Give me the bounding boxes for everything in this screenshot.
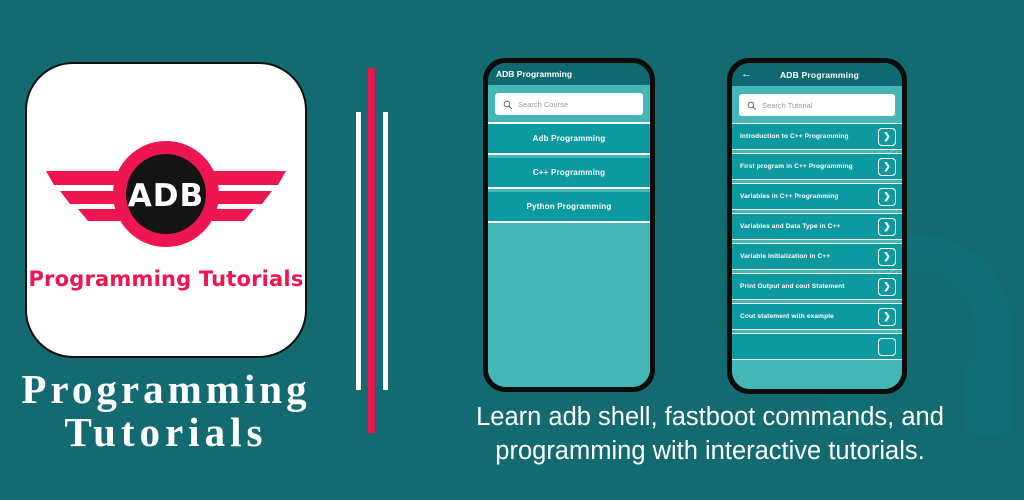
phone-mockup-courses: ADB Programming Search Course Adb Progra… (483, 58, 655, 392)
tutorial-label: Print Output and cout Statement (740, 283, 845, 290)
tutorial-label: Variables and Data Type in C++ (740, 223, 840, 230)
search-icon (503, 100, 512, 109)
tutorial-label: First program in C++ Programming (740, 163, 853, 170)
chevron-right-icon[interactable]: ❯ (878, 308, 896, 326)
list-item[interactable]: C++ Programming (488, 158, 650, 189)
list-item[interactable]: Variables in C++ Programming ❯ (732, 183, 902, 210)
app-icon-card: ADB Programming Tutorials (25, 62, 307, 358)
course-label: C++ Programming (533, 168, 605, 177)
pink-vertical-bar (368, 68, 375, 433)
search-input[interactable]: Search Tutorial (739, 94, 895, 116)
app-title-line2: Tutorials (0, 411, 332, 454)
chevron-right-icon[interactable] (878, 338, 896, 356)
page-title: Programming Tutorials (0, 368, 332, 453)
search-placeholder: Search Tutorial (762, 101, 812, 110)
phone2-appbar-title: ADB Programming (759, 70, 894, 80)
phone2-tutorial-list: Introduction to C++ Programming ❯ First … (732, 123, 902, 389)
search-icon (747, 101, 756, 110)
list-item[interactable]: Introduction to C++ Programming ❯ (732, 123, 902, 150)
list-item[interactable]: Python Programming (488, 192, 650, 223)
white-vertical-bar-right (383, 112, 388, 390)
list-item[interactable] (732, 333, 902, 360)
tutorial-label: Variable Initialization in C++ (740, 253, 830, 260)
phone1-empty-area (488, 223, 650, 387)
chevron-right-icon[interactable]: ❯ (878, 278, 896, 296)
tutorial-label: Variables in C++ Programming (740, 193, 838, 200)
white-vertical-bar-left (356, 112, 361, 390)
phone2-appbar: ← ADB Programming (732, 63, 902, 86)
phone-mockup-tutorials: ← ADB Programming Search Tutorial Introd… (727, 58, 907, 394)
logo-caption: Programming Tutorials (28, 267, 303, 291)
adb-winged-badge-icon: ADB (44, 135, 288, 253)
list-item[interactable]: Print Output and cout Statement ❯ (732, 273, 902, 300)
phone1-course-list: Adb Programming C++ Programming Python P… (488, 122, 650, 387)
chevron-right-icon[interactable]: ❯ (878, 128, 896, 146)
svg-text:ADB: ADB (128, 178, 204, 214)
course-label: Python Programming (527, 202, 612, 211)
phone1-appbar: ADB Programming (488, 63, 650, 85)
course-label: Adb Programming (533, 134, 606, 143)
list-item[interactable]: First program in C++ Programming ❯ (732, 153, 902, 180)
phone1-appbar-title: ADB Programming (496, 69, 572, 79)
phone1-search-zone: Search Course (488, 85, 650, 122)
tutorial-label: Cout statement with example (740, 313, 834, 320)
phone2-search-zone: Search Tutorial (732, 86, 902, 123)
chevron-right-icon[interactable]: ❯ (878, 248, 896, 266)
list-item[interactable]: Variable Initialization in C++ ❯ (732, 243, 902, 270)
search-placeholder: Search Course (518, 100, 568, 109)
caption-line2: programming with interactive tutorials. (396, 434, 1024, 468)
promo-caption: Learn adb shell, fastboot commands, and … (396, 400, 1024, 469)
app-title-line1: Programming (21, 366, 310, 412)
search-input[interactable]: Search Course (495, 93, 643, 115)
list-item[interactable]: Variables and Data Type in C++ ❯ (732, 213, 902, 240)
tutorial-label: Introduction to C++ Programming (740, 133, 849, 140)
list-item[interactable]: Adb Programming (488, 122, 650, 155)
phone2-screen: ← ADB Programming Search Tutorial Introd… (732, 63, 902, 389)
phone1-screen: ADB Programming Search Course Adb Progra… (488, 63, 650, 387)
back-arrow-icon[interactable]: ← (741, 69, 752, 80)
list-item[interactable]: Cout statement with example ❯ (732, 303, 902, 330)
chevron-right-icon[interactable]: ❯ (878, 158, 896, 176)
promo-banner: ADB Programming Tutorials Programming Tu… (0, 0, 1024, 500)
caption-line1: Learn adb shell, fastboot commands, and (396, 400, 1024, 434)
chevron-right-icon[interactable]: ❯ (878, 188, 896, 206)
chevron-right-icon[interactable]: ❯ (878, 218, 896, 236)
